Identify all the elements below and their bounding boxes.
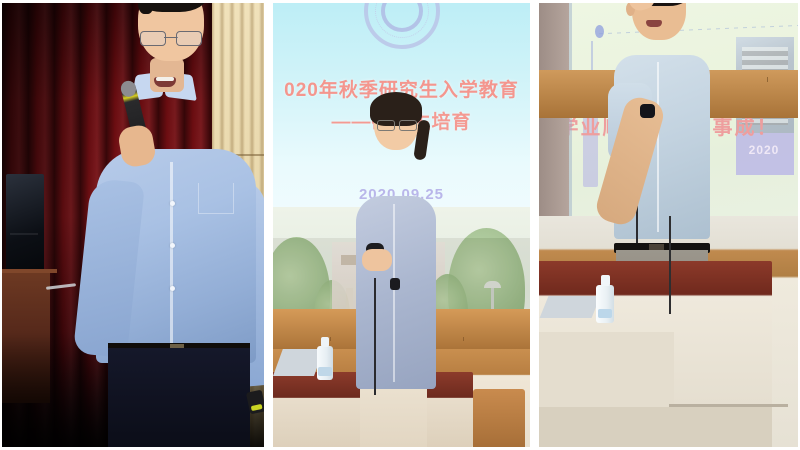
speaker-middle-shirt — [356, 196, 436, 389]
lectern-edge — [669, 404, 788, 407]
photo-collage: 020年秋季研究生入学教育 ——研究生培育 2020.09.25 — [0, 0, 800, 450]
panel-divider — [264, 0, 273, 450]
eyeglasses-icon — [377, 120, 417, 129]
podium-top — [2, 269, 57, 273]
slide-year-label: 2020 — [740, 143, 788, 157]
panel-divider — [530, 0, 539, 450]
microphone-cord — [374, 278, 376, 395]
hand-sanitizer-bottle — [317, 346, 333, 380]
speaker-middle-hands — [362, 249, 392, 271]
panel-middle: 020年秋季研究生入学教育 ——研究生培育 2020.09.25 — [273, 3, 530, 447]
university-seal-icon — [364, 3, 440, 49]
speaker-left — [80, 65, 264, 447]
hand-sanitizer-bottle — [596, 285, 614, 323]
panel-left — [2, 3, 264, 447]
stage-monitor — [6, 174, 44, 276]
shirt-button — [170, 286, 175, 291]
presentation-clicker — [246, 389, 264, 414]
speaker-middle — [350, 96, 442, 389]
papers — [540, 296, 601, 318]
panel-right: 2020 祝各位同学： 学业顺利，心想事成！ — [539, 3, 798, 447]
eyeglasses-icon — [140, 31, 202, 44]
lectern-base — [539, 407, 772, 447]
chair — [473, 389, 524, 447]
wristwatch — [640, 104, 655, 118]
microphone-stand — [669, 216, 671, 314]
shirt-pocket — [198, 183, 234, 214]
speaker-left-trousers — [108, 348, 250, 447]
mouth — [154, 77, 176, 87]
shirt-button — [170, 201, 175, 206]
wristwatch — [390, 278, 400, 290]
shirt-button — [170, 243, 175, 248]
slide-dot-marker — [595, 25, 604, 38]
